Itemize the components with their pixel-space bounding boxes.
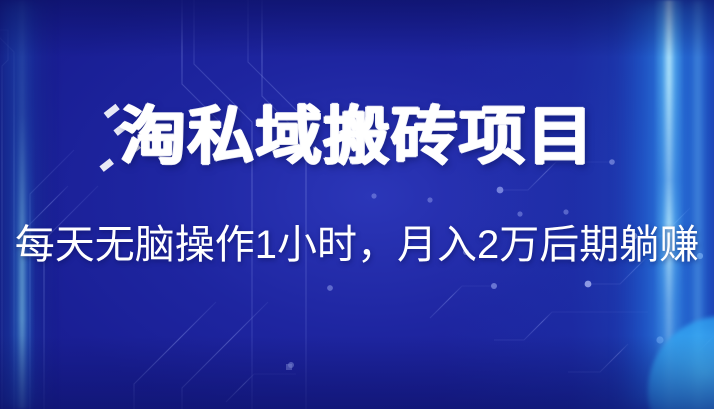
page-subtitle: 每天无脑操作1小时，月入2万后期躺赚 <box>15 225 700 265</box>
page-title: 淘私域搬砖项目 <box>120 106 595 169</box>
poster-text-block: 淘私域搬砖项目 每天无脑操作1小时，月入2万后期躺赚 <box>0 0 714 409</box>
promo-banner: 淘私域搬砖项目 每天无脑操作1小时，月入2万后期躺赚 <box>0 0 714 409</box>
